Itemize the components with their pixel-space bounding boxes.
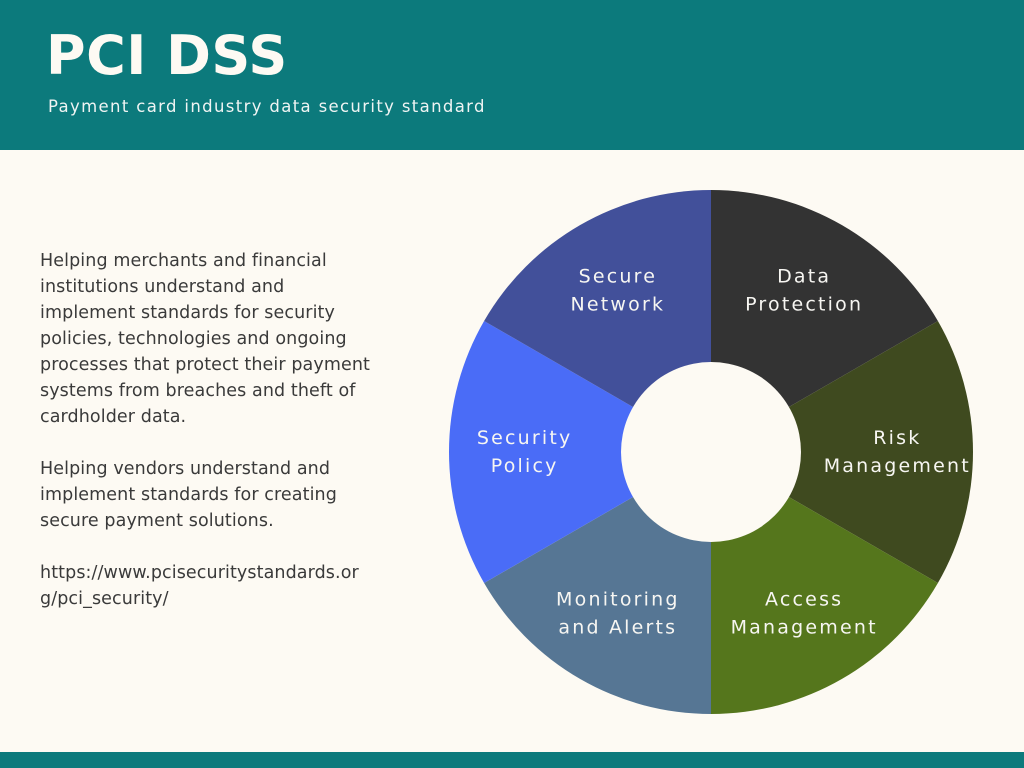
description-paragraph-1: Helping merchants and financial institut… [40,248,370,430]
page-title: PCI DSS [46,28,288,85]
footer-band [0,752,1024,768]
reference-url[interactable]: https://www.pcisecuritystandards.org/pci… [40,560,370,612]
description-paragraph-2: Helping vendors understand and implement… [40,456,370,534]
poster-canvas: PCI DSS Payment card industry data secur… [0,0,1024,768]
page-subtitle: Payment card industry data security stan… [48,97,486,116]
donut-chart: DataProtectionRiskManagementAccessManage… [449,190,973,714]
description-column: Helping merchants and financial institut… [40,248,370,612]
donut-chart-svg: DataProtectionRiskManagementAccessManage… [449,190,973,714]
donut-center-hole [621,362,801,542]
header-band: PCI DSS Payment card industry data secur… [0,0,1024,150]
